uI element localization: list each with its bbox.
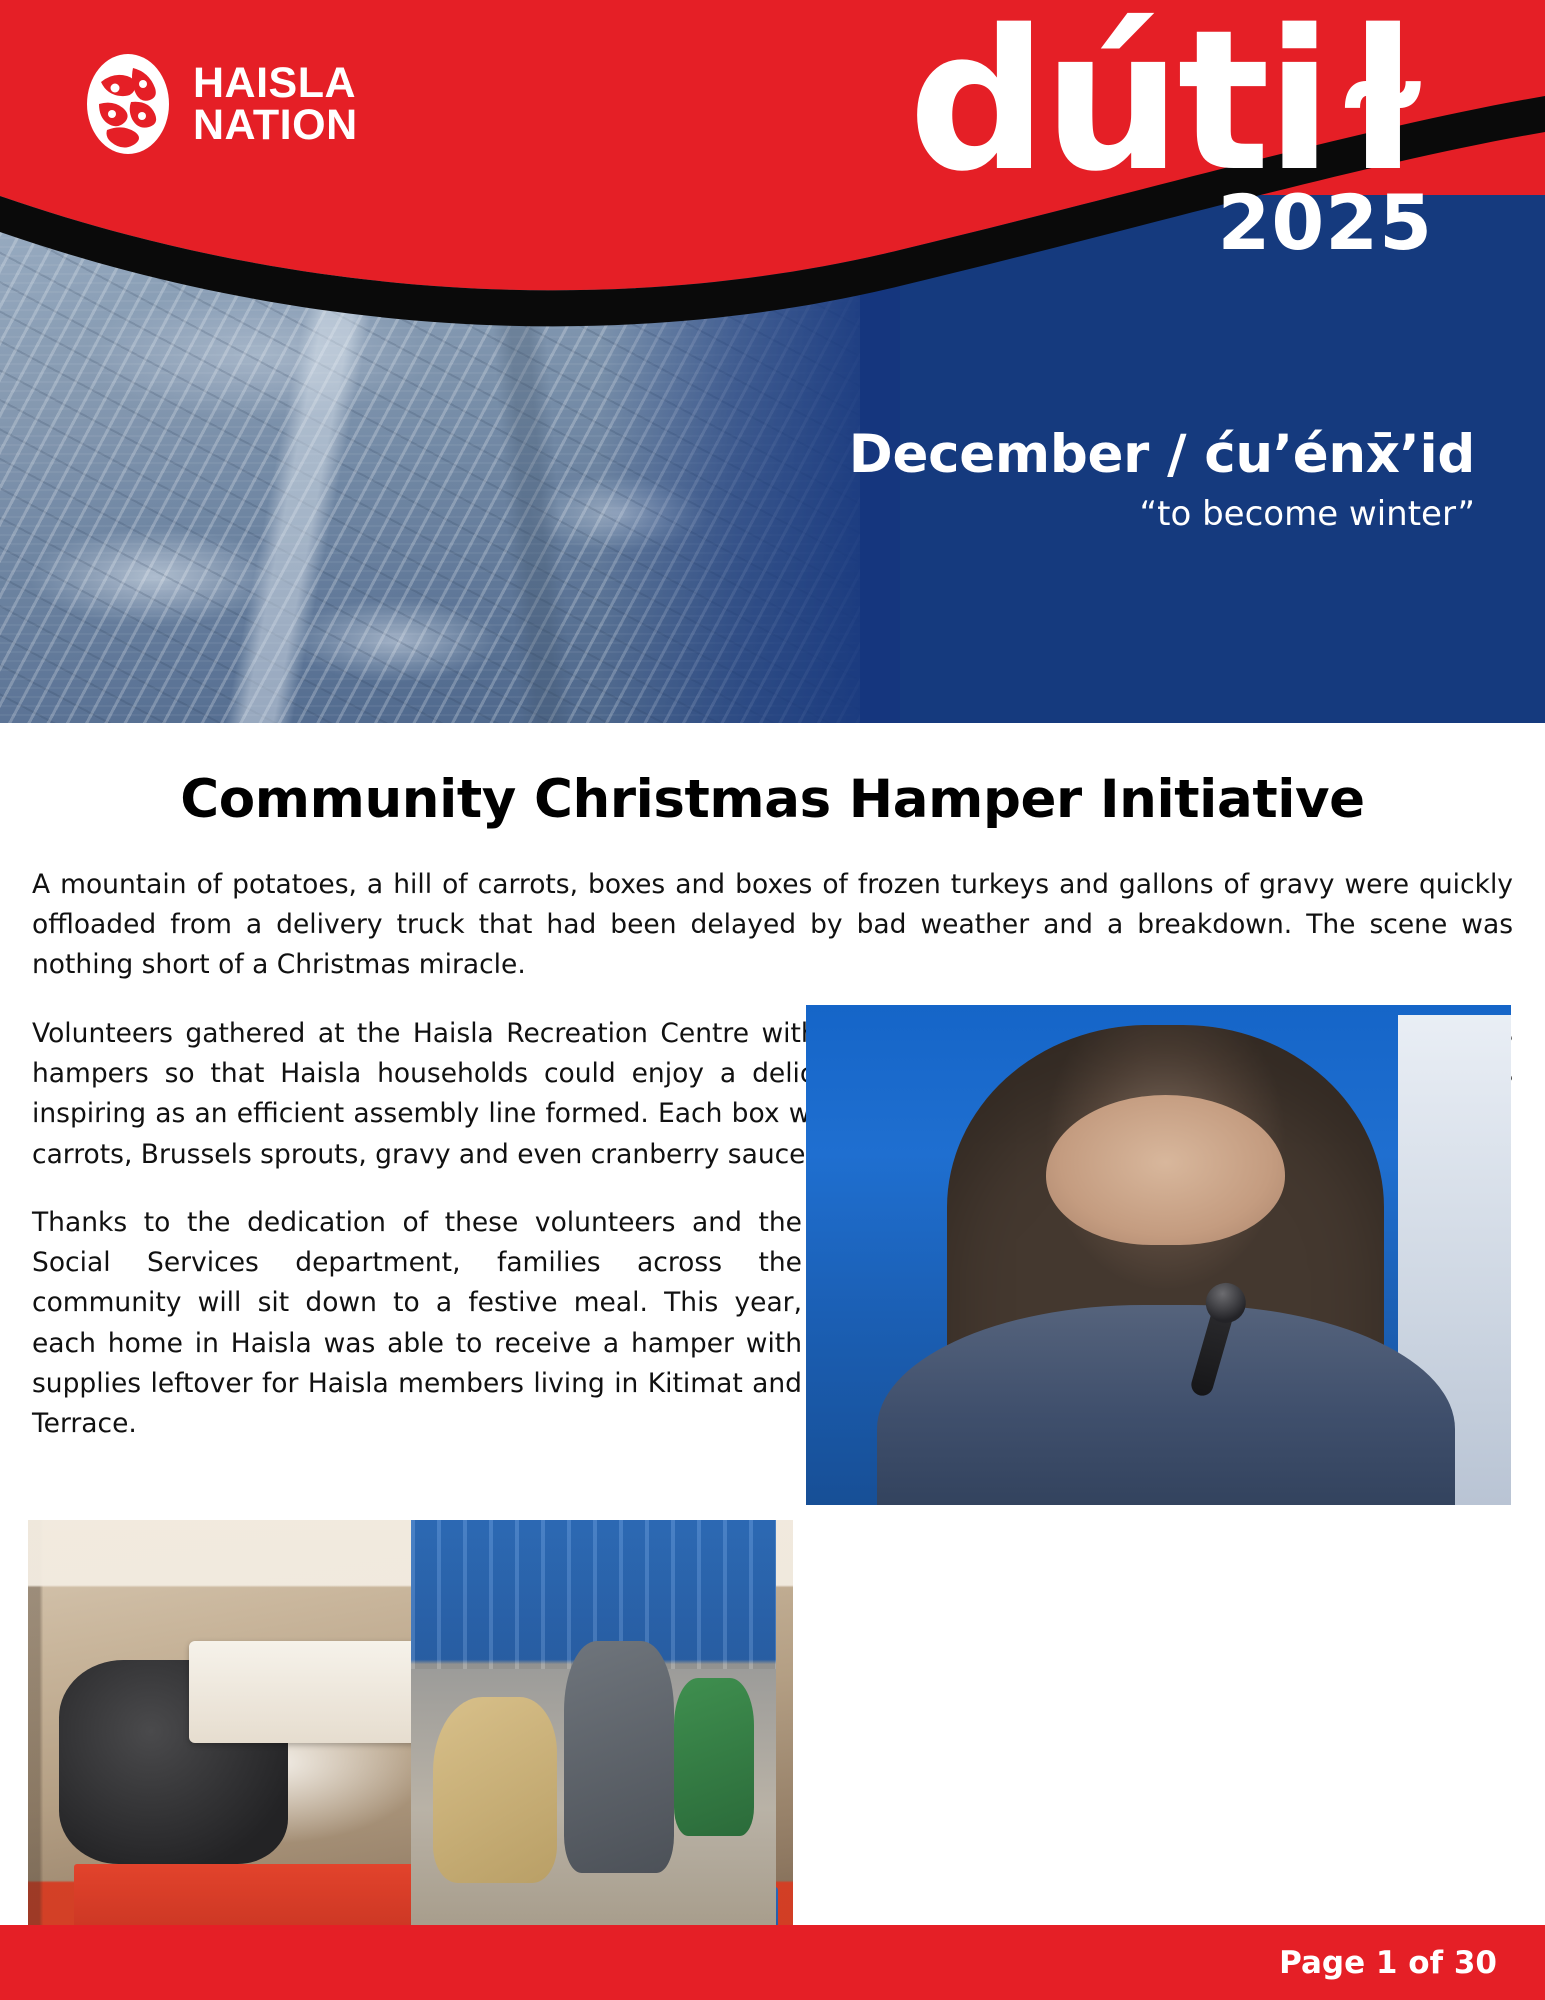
issue-month-translation: “to become winter”: [849, 492, 1475, 536]
page-footer: Page 1 of 30: [0, 1925, 1545, 2000]
haisla-crest-icon: [85, 52, 171, 156]
brand-name-line1: HAISLA: [193, 62, 358, 104]
volunteers-packing-photo: [411, 1520, 776, 1985]
newsletter-page: HAISLA NATION dútiɫ 2025 December / ću’é…: [0, 0, 1545, 2000]
brand-name-line2: NATION: [193, 104, 358, 146]
brand-logo-text: HAISLA NATION: [193, 62, 358, 146]
page-header: HAISLA NATION dútiɫ 2025 December / ću’é…: [0, 0, 1545, 725]
header-bottom-rule: [0, 723, 1545, 725]
masthead-title: dútiɫ: [908, 22, 1433, 181]
issue-month-title: December / ću’énx̄’id: [849, 425, 1475, 486]
speaker-portrait-photo: [806, 1005, 1511, 1505]
issue-month-block: December / ću’énx̄’id “to become winter”: [849, 425, 1475, 536]
masthead: dútiɫ 2025: [908, 22, 1433, 261]
article-paragraph: Thanks to the dedication of these volunt…: [32, 1203, 802, 1445]
article-paragraph: A mountain of potatoes, a hill of carrot…: [32, 865, 1513, 986]
page-number: Page 1 of 30: [1279, 1945, 1497, 1981]
brand-logo: HAISLA NATION: [85, 52, 358, 156]
page-title: Community Christmas Hamper Initiative: [0, 770, 1545, 831]
